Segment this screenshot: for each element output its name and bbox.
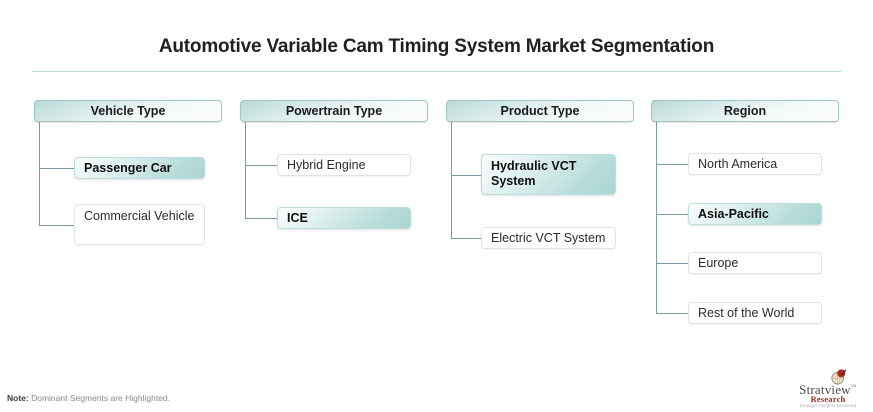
segment-node-north-america[interactable]: North America [688, 153, 822, 175]
segment-node-label: Commercial Vehicle [84, 209, 194, 224]
footnote: Note: Dominant Segments are Highlighted. [7, 393, 170, 403]
segment-node-commercial-vehicle[interactable]: Commercial Vehicle [74, 204, 205, 245]
connector-stub [656, 214, 689, 215]
footnote-text: Dominant Segments are Highlighted. [29, 393, 170, 403]
segment-column-product-type: Product Type Hydraulic VCT System Electr… [446, 100, 634, 122]
segment-node-label: Asia-Pacific [698, 207, 769, 222]
connector-stub [39, 168, 75, 169]
connector-stub [451, 175, 482, 176]
segment-node-passenger-car[interactable]: Passenger Car [74, 157, 205, 179]
segment-node-label: ICE [287, 211, 308, 226]
segment-node-label: Hybrid Engine [287, 158, 366, 173]
segment-column-region: Region North America Asia-Pacific Europe… [651, 100, 839, 122]
segment-node-asia-pacific[interactable]: Asia-Pacific [688, 203, 822, 225]
segment-column-vehicle-type: Vehicle Type Passenger Car Commercial Ve… [34, 100, 222, 122]
segment-node-label: Europe [698, 256, 738, 271]
logo-tagline: Strategic Insights Delivered [789, 403, 867, 408]
connector-stub [656, 263, 689, 264]
connector-stub [245, 218, 278, 219]
connector-stub [245, 165, 278, 166]
column-header-vehicle-type[interactable]: Vehicle Type [34, 100, 222, 122]
segment-node-label: Passenger Car [84, 161, 172, 176]
stratview-research-logo: Stratview™ Research Strategic Insights D… [789, 368, 867, 408]
connector-trunk [39, 122, 40, 225]
connector-stub [39, 225, 75, 226]
segment-node-ice[interactable]: ICE [277, 207, 411, 229]
segment-node-hybrid-engine[interactable]: Hybrid Engine [277, 154, 411, 176]
segment-node-hydraulic-vct-system[interactable]: Hydraulic VCT System [481, 154, 616, 195]
segment-node-rest-of-the-world[interactable]: Rest of the World [688, 302, 822, 324]
segmentation-infographic: Automotive Variable Cam Timing System Ma… [0, 0, 873, 412]
connector-trunk [656, 122, 657, 313]
connector-trunk [451, 122, 452, 238]
connector-stub [451, 238, 482, 239]
connector-stub [656, 164, 689, 165]
connector-stub [656, 313, 689, 314]
segment-node-label: North America [698, 157, 777, 172]
connector-trunk [245, 122, 246, 218]
trademark-icon: ™ [851, 385, 857, 391]
segment-node-label: Hydraulic VCT System [491, 159, 606, 189]
segmentation-columns: Vehicle Type Passenger Car Commercial Ve… [0, 0, 873, 412]
column-header-product-type[interactable]: Product Type [446, 100, 634, 122]
segment-node-electric-vct-system[interactable]: Electric VCT System [481, 227, 616, 249]
column-header-region[interactable]: Region [651, 100, 839, 122]
segment-node-label: Rest of the World [698, 306, 794, 321]
segment-node-europe[interactable]: Europe [688, 252, 822, 274]
column-header-powertrain-type[interactable]: Powertrain Type [240, 100, 428, 122]
footnote-label: Note: [7, 393, 29, 403]
segment-node-label: Electric VCT System [491, 231, 605, 246]
segment-column-powertrain-type: Powertrain Type Hybrid Engine ICE [240, 100, 428, 122]
